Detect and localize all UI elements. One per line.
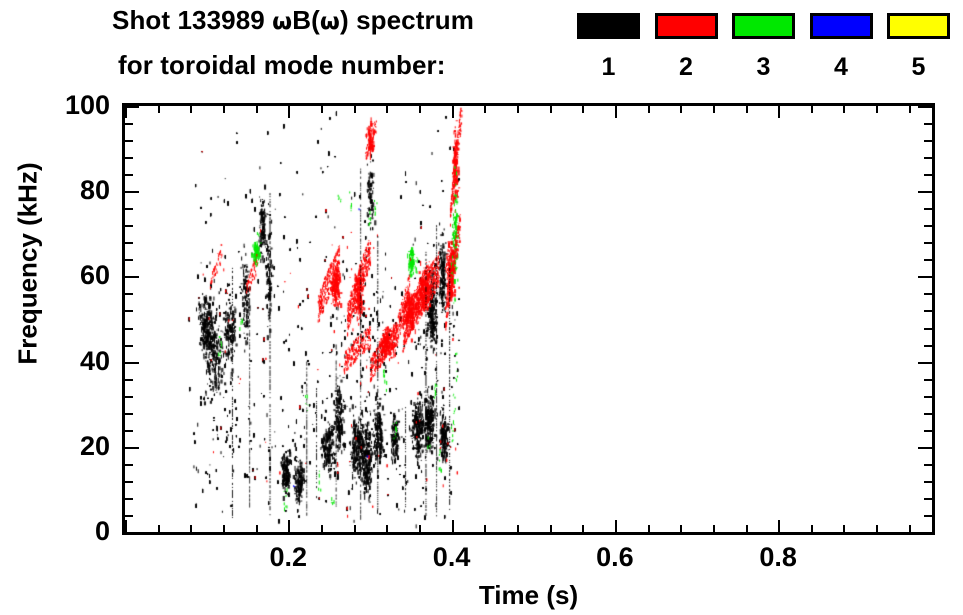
legend-label-3: 3 — [732, 53, 795, 82]
x-tick-top-minor-0.04 — [158, 106, 160, 113]
legend-labels: 12345 — [577, 53, 963, 85]
omega-symbol-2: ω — [320, 9, 340, 35]
x-tick-minor-0.24 — [321, 525, 323, 532]
x-tick-top-minor-0.08 — [190, 106, 192, 113]
x-tick-minor-0.28 — [354, 525, 356, 532]
y-tick-right-minor-72 — [924, 225, 932, 227]
y-tick-major-60 — [125, 276, 139, 278]
title-prefix: Shot 133989 — [112, 5, 272, 35]
omega-symbol-1: ω — [272, 9, 292, 35]
x-tick-top-minor-0.96 — [909, 106, 911, 113]
y-tick-right-minor-96 — [924, 123, 932, 125]
x-tick-major-0.80 — [778, 520, 780, 532]
y-tick-label-0: 0 — [95, 518, 110, 545]
legend-swatch-1 — [577, 13, 640, 39]
x-tick-minor-0.68 — [680, 525, 682, 532]
y-tick-minor-56 — [125, 293, 133, 295]
y-tick-minor-96 — [125, 123, 133, 125]
y-tick-right-major-40 — [918, 362, 932, 364]
x-tick-major-0.20 — [288, 520, 290, 532]
x-tick-label-0.2: 0.2 — [243, 544, 333, 571]
legend-label-1: 1 — [577, 53, 640, 82]
y-tick-minor-92 — [125, 140, 133, 142]
x-tick-minor-0.32 — [386, 525, 388, 532]
y-tick-right-minor-12 — [924, 481, 932, 483]
x-tick-minor-0.16 — [256, 525, 258, 532]
y-tick-minor-48 — [125, 328, 133, 330]
x-tick-top-minor-0.48 — [517, 106, 519, 113]
title-line-1: Shot 133989 ωB(ω) spectrum — [112, 5, 474, 36]
y-tick-right-minor-56 — [924, 293, 932, 295]
y-tick-major-40 — [125, 362, 139, 364]
y-tick-right-minor-88 — [924, 157, 932, 159]
x-tick-label-0.6: 0.6 — [570, 544, 660, 571]
y-tick-minor-52 — [125, 310, 133, 312]
y-tick-minor-68 — [125, 242, 133, 244]
x-tick-minor-0.52 — [550, 525, 552, 532]
y-tick-right-minor-68 — [924, 242, 932, 244]
y-tick-major-20 — [125, 447, 139, 449]
legend-label-5: 5 — [887, 53, 950, 82]
legend-swatches — [577, 13, 963, 41]
y-tick-minor-8 — [125, 498, 133, 500]
x-tick-minor-0.36 — [419, 525, 421, 532]
y-tick-minor-16 — [125, 464, 133, 466]
legend-swatch-2 — [655, 13, 718, 39]
y-tick-minor-88 — [125, 157, 133, 159]
y-tick-label-80: 80 — [80, 177, 110, 204]
x-tick-top-minor-0.32 — [386, 106, 388, 113]
axis-bottom — [122, 532, 935, 535]
y-tick-right-minor-76 — [924, 208, 932, 210]
y-tick-right-major-100 — [918, 106, 932, 108]
y-tick-right-major-80 — [918, 191, 932, 193]
title-line-2: for toroidal mode number: — [118, 50, 446, 81]
x-tick-top-minor-0.36 — [419, 106, 421, 113]
x-tick-labels: 0.20.40.60.8 — [122, 544, 935, 580]
legend-label-2: 2 — [655, 53, 718, 82]
x-tick-label-0.4: 0.4 — [407, 544, 497, 571]
axis-right — [932, 103, 935, 535]
x-tick-major-0.00 — [125, 520, 127, 532]
y-tick-minor-84 — [125, 174, 133, 176]
x-tick-top-minor-0.24 — [321, 106, 323, 113]
x-tick-minor-0.84 — [811, 525, 813, 532]
x-tick-top-major-0.20 — [288, 106, 290, 118]
x-tick-major-0.60 — [615, 520, 617, 532]
legend-swatch-5 — [887, 13, 950, 39]
y-tick-minor-12 — [125, 481, 133, 483]
x-tick-top-minor-0.28 — [354, 106, 356, 113]
y-tick-major-80 — [125, 191, 139, 193]
x-tick-minor-0.92 — [876, 525, 878, 532]
title-suffix: ) spectrum — [340, 5, 474, 35]
y-tick-minor-4 — [125, 515, 133, 517]
x-tick-major-0.40 — [452, 520, 454, 532]
x-tick-minor-0.96 — [909, 525, 911, 532]
y-tick-major-0 — [125, 532, 139, 534]
x-tick-minor-0.56 — [582, 525, 584, 532]
y-tick-right-minor-16 — [924, 464, 932, 466]
title-mid: B( — [292, 5, 320, 35]
y-tick-right-minor-52 — [924, 310, 932, 312]
x-tick-top-major-0.60 — [615, 106, 617, 118]
y-tick-right-minor-32 — [924, 396, 932, 398]
x-tick-top-minor-0.72 — [713, 106, 715, 113]
x-tick-top-minor-0.76 — [746, 106, 748, 113]
y-tick-right-minor-48 — [924, 328, 932, 330]
x-tick-minor-0.12 — [223, 525, 225, 532]
spectrogram-figure: Shot 133989 ωB(ω) spectrum for toroidal … — [0, 0, 963, 615]
y-axis-label: Frequency (kHz) — [13, 54, 44, 474]
y-tick-major-100 — [125, 106, 139, 108]
y-tick-minor-32 — [125, 396, 133, 398]
x-tick-minor-0.48 — [517, 525, 519, 532]
y-tick-label-40: 40 — [80, 348, 110, 375]
y-tick-right-minor-28 — [924, 413, 932, 415]
y-tick-right-major-60 — [918, 276, 932, 278]
x-tick-minor-0.64 — [648, 525, 650, 532]
x-tick-minor-0.08 — [190, 525, 192, 532]
legend-swatch-3 — [732, 13, 795, 39]
y-tick-minor-36 — [125, 379, 133, 381]
x-tick-top-minor-0.16 — [256, 106, 258, 113]
y-tick-minor-72 — [125, 225, 133, 227]
y-tick-right-minor-84 — [924, 174, 932, 176]
x-tick-top-minor-0.92 — [876, 106, 878, 113]
y-tick-right-minor-8 — [924, 498, 932, 500]
y-tick-right-minor-64 — [924, 259, 932, 261]
y-tick-right-minor-44 — [924, 345, 932, 347]
x-tick-top-minor-0.88 — [843, 106, 845, 113]
x-axis-label: Time (s) — [122, 580, 935, 611]
y-tick-label-60: 60 — [80, 262, 110, 289]
y-tick-right-major-20 — [918, 447, 932, 449]
y-tick-right-minor-36 — [924, 379, 932, 381]
y-tick-minor-76 — [125, 208, 133, 210]
x-tick-minor-0.04 — [158, 525, 160, 532]
x-tick-top-minor-0.84 — [811, 106, 813, 113]
x-tick-minor-0.72 — [713, 525, 715, 532]
x-tick-top-major-0.40 — [452, 106, 454, 118]
legend-label-4: 4 — [810, 53, 873, 82]
plot-frame — [122, 103, 935, 535]
y-tick-minor-44 — [125, 345, 133, 347]
x-tick-minor-0.44 — [484, 525, 486, 532]
y-tick-right-minor-4 — [924, 515, 932, 517]
x-tick-minor-0.88 — [843, 525, 845, 532]
y-tick-right-minor-92 — [924, 140, 932, 142]
y-tick-right-major-0 — [918, 532, 932, 534]
x-tick-top-minor-0.12 — [223, 106, 225, 113]
y-tick-minor-24 — [125, 430, 133, 432]
legend-swatch-4 — [810, 13, 873, 39]
x-tick-top-minor-0.68 — [680, 106, 682, 113]
x-tick-top-minor-0.56 — [582, 106, 584, 113]
axis-left — [122, 103, 125, 535]
x-tick-label-0.8: 0.8 — [733, 544, 823, 571]
y-tick-label-20: 20 — [80, 433, 110, 460]
y-tick-minor-64 — [125, 259, 133, 261]
y-tick-label-100: 100 — [65, 92, 110, 119]
x-tick-top-major-0.80 — [778, 106, 780, 118]
y-tick-minor-28 — [125, 413, 133, 415]
spectrogram-data-canvas — [125, 106, 932, 532]
x-tick-top-minor-0.52 — [550, 106, 552, 113]
axis-top — [122, 103, 935, 106]
x-tick-minor-0.76 — [746, 525, 748, 532]
y-tick-right-minor-24 — [924, 430, 932, 432]
x-tick-top-minor-0.44 — [484, 106, 486, 113]
x-tick-top-minor-0.64 — [648, 106, 650, 113]
